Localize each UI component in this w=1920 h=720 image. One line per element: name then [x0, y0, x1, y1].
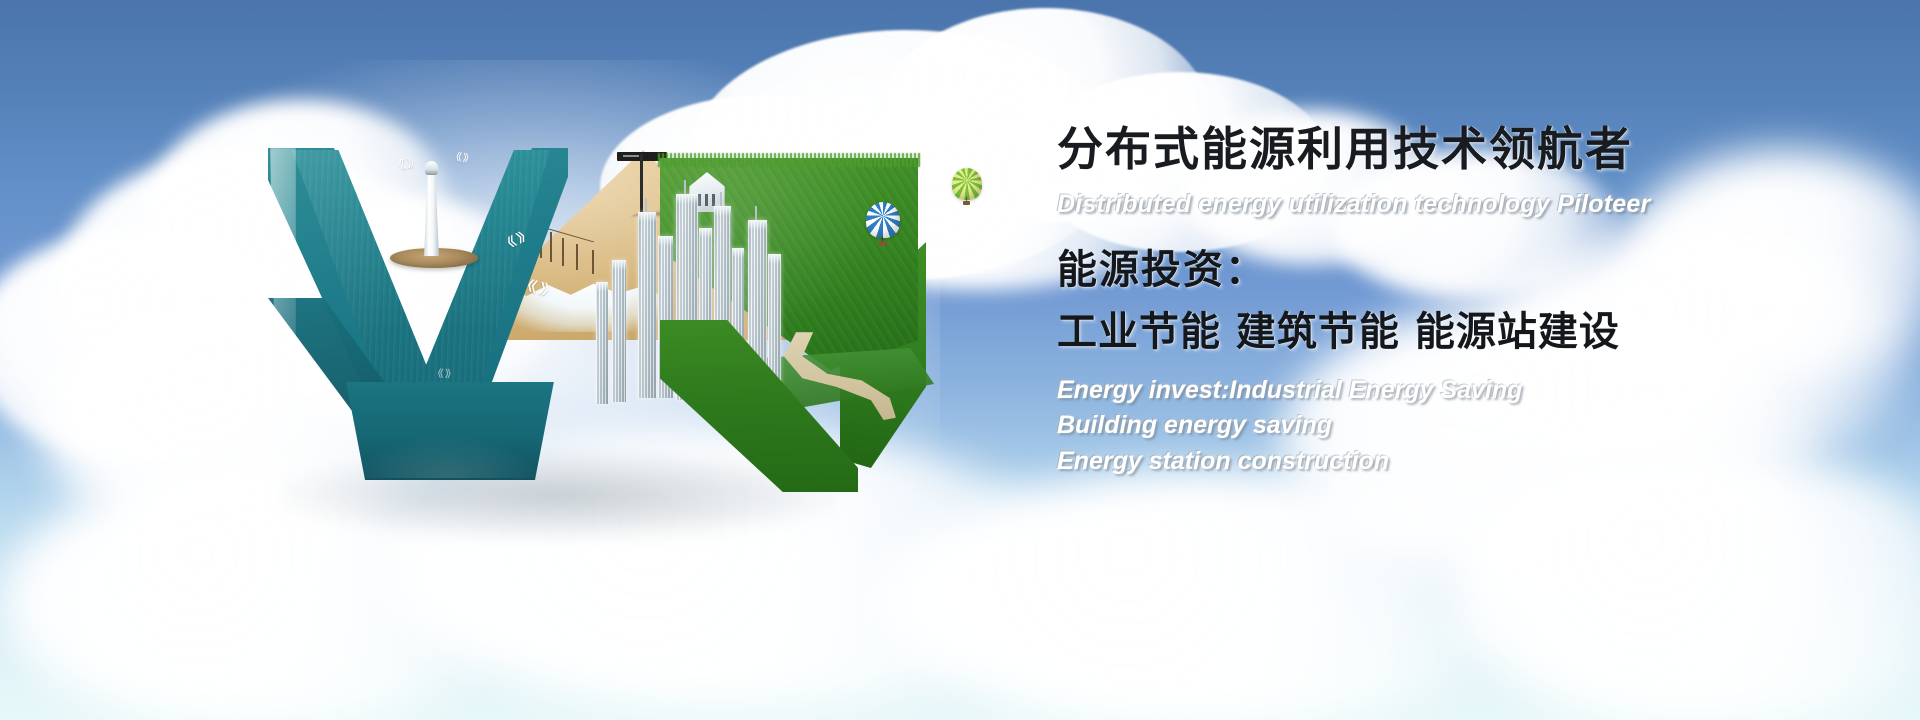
balloon-basket — [963, 201, 970, 205]
fence-post-icon — [592, 250, 594, 274]
hot-air-balloon-green-icon — [952, 168, 982, 206]
headline-chinese: 分布式能源利用技术领航者 — [1057, 126, 1877, 174]
skyscraper-icon — [596, 282, 608, 404]
ocean-edge-highlight — [270, 148, 296, 448]
services-chinese: 工业节能 建筑节能 能源站建设 — [1057, 311, 1877, 353]
balloon-envelope — [866, 202, 900, 238]
skyscraper-icon — [638, 212, 656, 398]
balloon-basket — [879, 241, 887, 246]
hot-air-balloon-blue-icon — [866, 202, 900, 246]
cloud-puff — [880, 470, 1530, 720]
cloud-puff — [1450, 450, 1920, 720]
balloon-envelope — [952, 168, 982, 200]
lighthouse-icon — [424, 172, 439, 256]
fence-post-icon — [562, 238, 564, 266]
w-letter-artwork: ⟪⟫ ⟪⟫ ⟪⟫ ⟪⟫ ⟪⟫ — [240, 120, 900, 540]
services-english-line-3: Energy station construction — [1057, 444, 1877, 480]
grass-edge-texture — [658, 153, 920, 167]
headline-english: Distributed energy utilization technolog… — [1057, 190, 1877, 219]
section-label-chinese: 能源投资： — [1057, 249, 1877, 291]
services-english-line-1: Energy invest:Industrial Energy Saving — [1057, 373, 1877, 409]
skyscraper-icon — [612, 260, 626, 402]
signpost-pole-icon — [640, 154, 643, 216]
lighthouse-reflection — [426, 266, 437, 320]
fence-post-icon — [576, 244, 578, 270]
seagull-icon: ⟪⟫ — [455, 151, 471, 163]
banner-copy: 分布式能源利用技术领航者 Distributed energy utilizat… — [1057, 126, 1877, 479]
services-english-line-2: Building energy saving — [1057, 408, 1877, 444]
lighthouse-lamp-icon — [425, 161, 438, 175]
hero-banner: ⟪⟫ ⟪⟫ ⟪⟫ ⟪⟫ ⟪⟫ 分布式能源利用技术领航者 Distributed … — [0, 0, 1920, 720]
ocean-bottom-face — [332, 382, 568, 480]
services-english-group: Energy invest:Industrial Energy Saving B… — [1057, 373, 1877, 480]
fence-post-icon — [550, 232, 552, 262]
seagull-icon: ⟪⟫ — [397, 156, 417, 171]
seagull-icon: ⟪⟫ — [437, 368, 453, 379]
